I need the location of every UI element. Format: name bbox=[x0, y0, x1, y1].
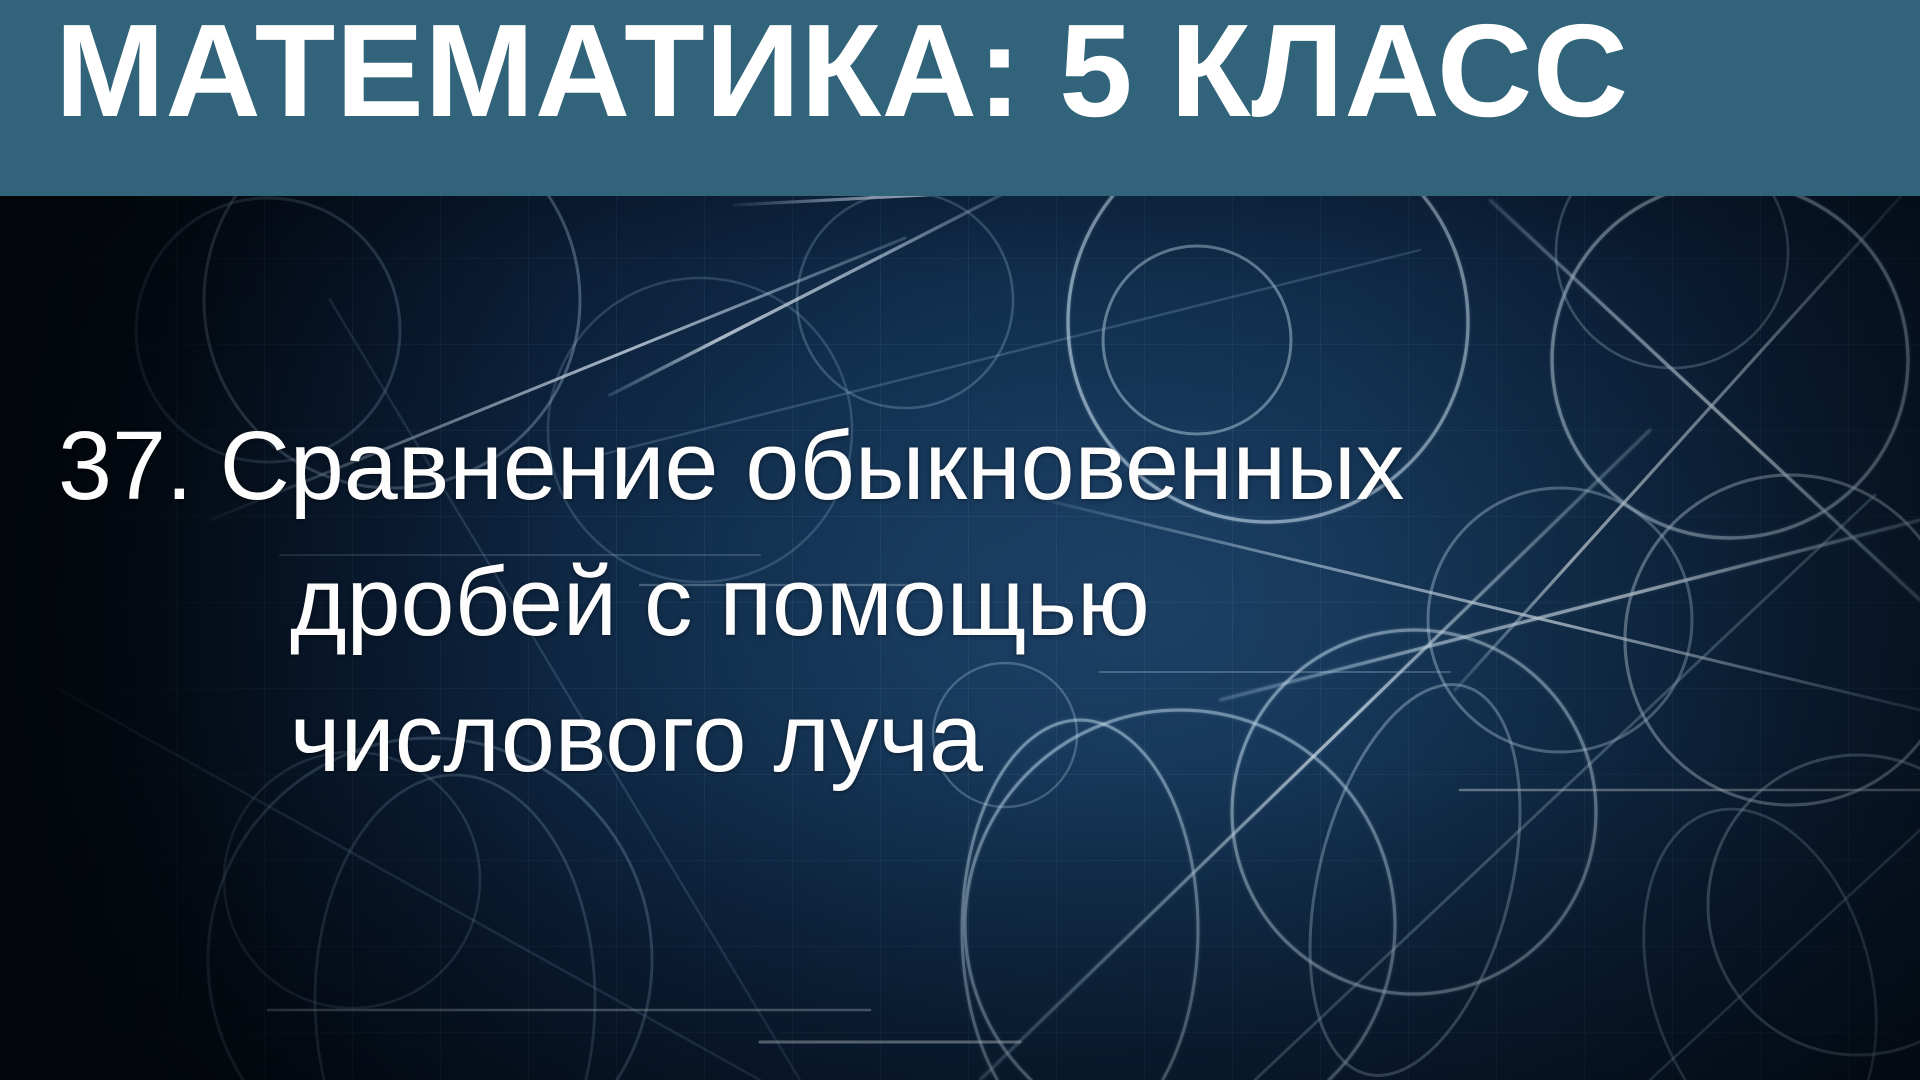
body-line-2: дробей с помощью bbox=[58, 534, 1818, 670]
body-line-3: числового луча bbox=[58, 670, 1818, 806]
body-line-1: 37. Сравнение обыкновенных bbox=[58, 398, 1818, 534]
slide-body-text: 37. Сравнение обыкновенных дробей с помо… bbox=[58, 398, 1818, 806]
slide-header-band: МАТЕМАТИКА: 5 КЛАСС bbox=[0, 0, 1920, 196]
slide-header-title: МАТЕМАТИКА: 5 КЛАСС bbox=[55, 0, 1629, 146]
presentation-slide: МАТЕМАТИКА: 5 КЛАСС 37. Сравнение обыкно… bbox=[0, 0, 1920, 1080]
